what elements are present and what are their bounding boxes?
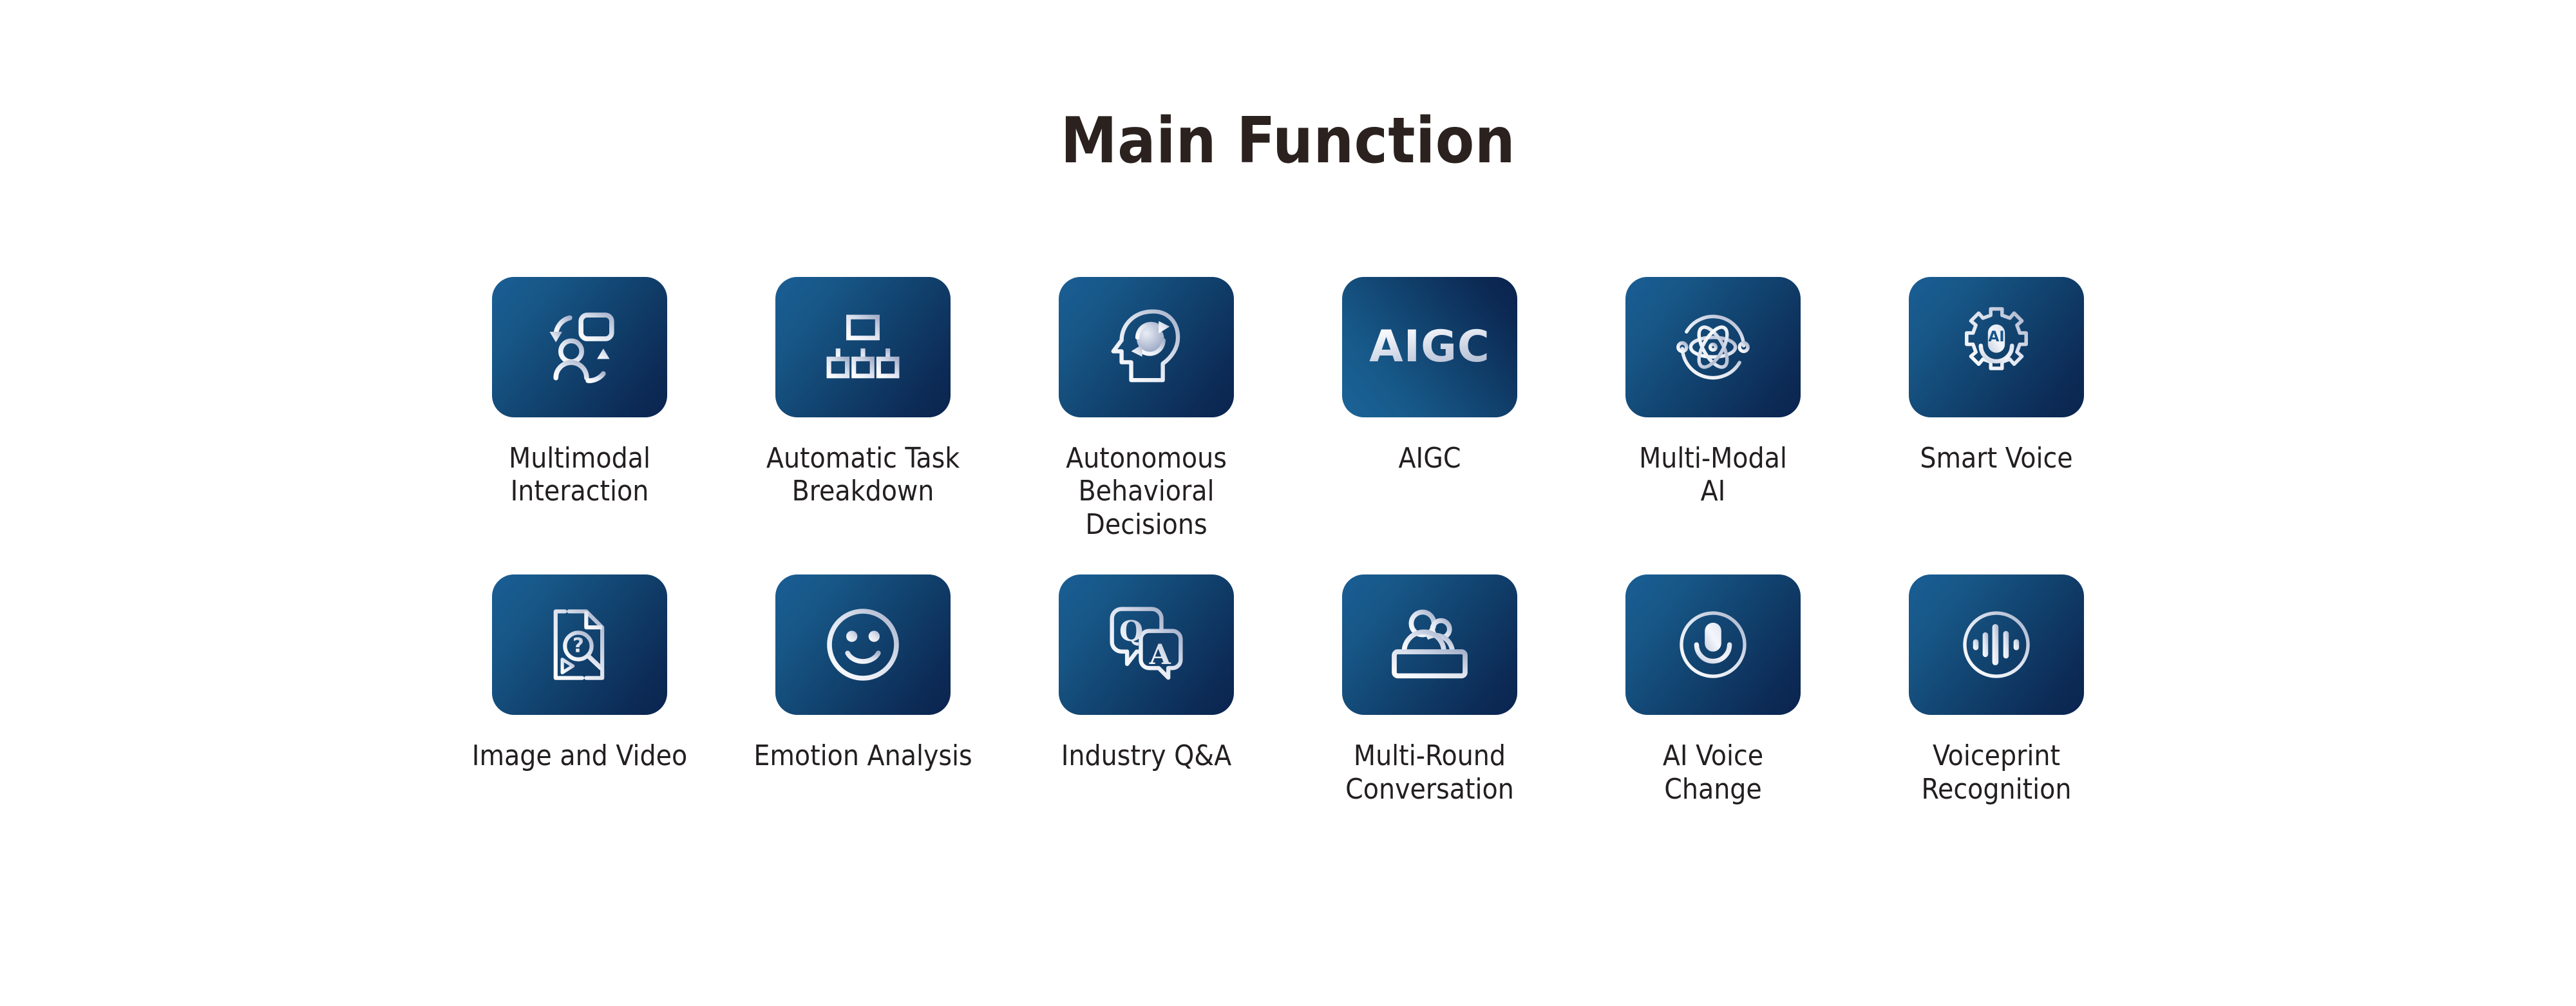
multimodal-interaction-icon bbox=[538, 305, 621, 389]
feature-tile[interactable] bbox=[1342, 574, 1517, 715]
feature-label: Autonomous Behavioral Decisions bbox=[1066, 442, 1227, 541]
feature-label: AI Voice Change bbox=[1663, 739, 1763, 806]
smiley-face-icon bbox=[821, 603, 905, 687]
feature-tile[interactable]: ? bbox=[492, 574, 667, 715]
feature-tile[interactable] bbox=[492, 277, 667, 417]
feature-tile[interactable]: AI bbox=[1909, 277, 2084, 417]
feature-row-1: Multimodal Interaction bbox=[0, 277, 2576, 541]
qa-speech-bubbles-icon: Q A bbox=[1105, 603, 1188, 686]
svg-text:AI: AI bbox=[1988, 329, 2004, 345]
feature-card-automatic-task-breakdown[interactable]: Automatic Task Breakdown bbox=[721, 277, 1005, 508]
feature-tile[interactable] bbox=[1059, 277, 1234, 417]
feature-label: Smart Voice bbox=[1920, 442, 2072, 475]
svg-text:A: A bbox=[1149, 639, 1171, 671]
svg-text:Q: Q bbox=[1119, 616, 1143, 648]
feature-tile[interactable]: Q A bbox=[1059, 574, 1234, 715]
svg-text:?: ? bbox=[573, 634, 584, 658]
gear-microphone-ai-icon: AI bbox=[1954, 305, 2039, 390]
task-breakdown-hierarchy-icon bbox=[824, 308, 902, 386]
feature-tile[interactable]: AIGC bbox=[1342, 277, 1517, 417]
feature-tile[interactable] bbox=[775, 574, 951, 715]
feature-tile[interactable] bbox=[1909, 574, 2084, 715]
main-function-page: Main Function bbox=[0, 0, 2576, 1006]
feature-card-smart-voice[interactable]: AI Smart Voice bbox=[1855, 277, 2138, 475]
document-magnifier-play-icon: ? bbox=[540, 605, 620, 685]
feature-card-emotion-analysis[interactable]: Emotion Analysis bbox=[721, 574, 1005, 772]
feature-label: Multi-Modal AI bbox=[1639, 442, 1787, 508]
group-people-table-icon bbox=[1387, 602, 1472, 687]
feature-card-multimodal-interaction[interactable]: Multimodal Interaction bbox=[438, 277, 721, 508]
feature-label: Automatic Task Breakdown bbox=[766, 442, 960, 508]
feature-label: Voiceprint Recognition bbox=[1922, 739, 2072, 806]
feature-grid: Multimodal Interaction bbox=[0, 277, 2576, 806]
feature-label: Emotion Analysis bbox=[753, 739, 972, 772]
feature-tile[interactable] bbox=[1625, 277, 1801, 417]
feature-card-aigc[interactable]: AIGC AIGC bbox=[1288, 277, 1571, 475]
feature-tile[interactable] bbox=[775, 277, 951, 417]
head-refresh-decision-icon bbox=[1105, 306, 1188, 388]
feature-label: Multi-Round Conversation bbox=[1345, 739, 1514, 806]
feature-row-2: ? Image and Video bbox=[0, 574, 2576, 806]
waveform-circle-icon bbox=[1955, 603, 2038, 686]
feature-label: Image and Video bbox=[472, 739, 687, 772]
feature-card-autonomous-behavioral-decisions[interactable]: Autonomous Behavioral Decisions bbox=[1005, 277, 1288, 541]
atom-orbit-icon bbox=[1671, 305, 1755, 389]
microphone-circle-icon bbox=[1672, 603, 1754, 686]
feature-label: Multimodal Interaction bbox=[509, 442, 650, 508]
feature-card-ai-voice-change[interactable]: AI Voice Change bbox=[1571, 574, 1855, 806]
aigc-text-icon: AIGC bbox=[1369, 325, 1490, 369]
feature-tile[interactable] bbox=[1625, 574, 1801, 715]
feature-card-voiceprint-recognition[interactable]: Voiceprint Recognition bbox=[1855, 574, 2138, 806]
page-title: Main Function bbox=[0, 109, 2576, 173]
feature-card-image-and-video[interactable]: ? Image and Video bbox=[438, 574, 721, 772]
feature-label: AIGC bbox=[1398, 442, 1461, 475]
feature-label: Industry Q&A bbox=[1061, 739, 1231, 772]
feature-card-industry-qa[interactable]: Q A Industry Q&A bbox=[1005, 574, 1288, 772]
feature-card-multi-round-conversation[interactable]: Multi-Round Conversation bbox=[1288, 574, 1571, 806]
feature-card-multi-modal-ai[interactable]: Multi-Modal AI bbox=[1571, 277, 1855, 508]
